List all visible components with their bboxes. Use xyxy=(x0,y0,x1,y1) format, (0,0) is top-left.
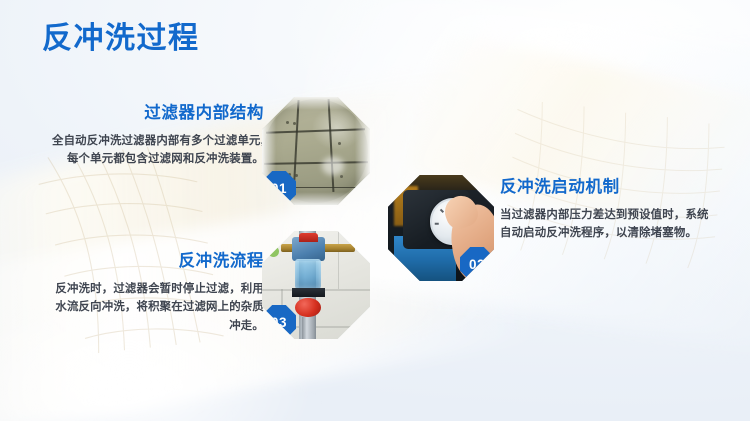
photo-03-red-cap xyxy=(299,233,318,242)
section-02-body: 当过滤器内部压力差达到预设值时，系统 自动启动反冲洗程序，以清除堵塞物。 xyxy=(500,206,750,243)
slide-canvas: 反冲洗过程 过滤器内部结构 全自动反冲洗过滤器内部有多个过滤单元, 每个单元都包… xyxy=(0,0,750,421)
filter-interior-structure-photo[interactable]: 01 xyxy=(262,97,370,205)
backwash-prefilter-photo[interactable]: 03 xyxy=(262,231,370,339)
section-01-body: 全自动反冲洗过滤器内部有多个过滤单元, 每个单元都包含过滤网和反冲洗装置。 xyxy=(0,132,264,169)
section-03-body: 反冲洗时，过滤器会暂时停止过滤，利用 水流反向冲洗，将积聚在过滤网上的杂质 冲走… xyxy=(0,280,264,335)
gauge-tick xyxy=(440,209,444,213)
section-02-heading: 反冲洗启动机制 xyxy=(500,178,750,197)
section-01-text: 过滤器内部结构 全自动反冲洗过滤器内部有多个过滤单元, 每个单元都包含过滤网和反… xyxy=(0,104,268,169)
photo-03-transparent-bowl xyxy=(295,259,321,289)
photo-03-outlet xyxy=(302,317,314,339)
gauge-tick xyxy=(435,223,439,225)
section-03-heading: 反冲洗流程 xyxy=(0,252,264,271)
section-03-text: 反冲洗流程 反冲洗时，过滤器会暂时停止过滤，利用 水流反向冲洗，将积聚在过滤网上… xyxy=(0,252,268,335)
section-01-heading: 过滤器内部结构 xyxy=(0,104,264,123)
page-title: 反冲洗过程 xyxy=(42,24,200,54)
photo-03-tile-seam xyxy=(338,231,340,289)
photo-03-dark-label xyxy=(292,288,324,297)
section-02-text: 反冲洗启动机制 当过滤器内部压力差达到预设值时，系统 自动启动反冲洗程序，以清除… xyxy=(500,178,750,243)
